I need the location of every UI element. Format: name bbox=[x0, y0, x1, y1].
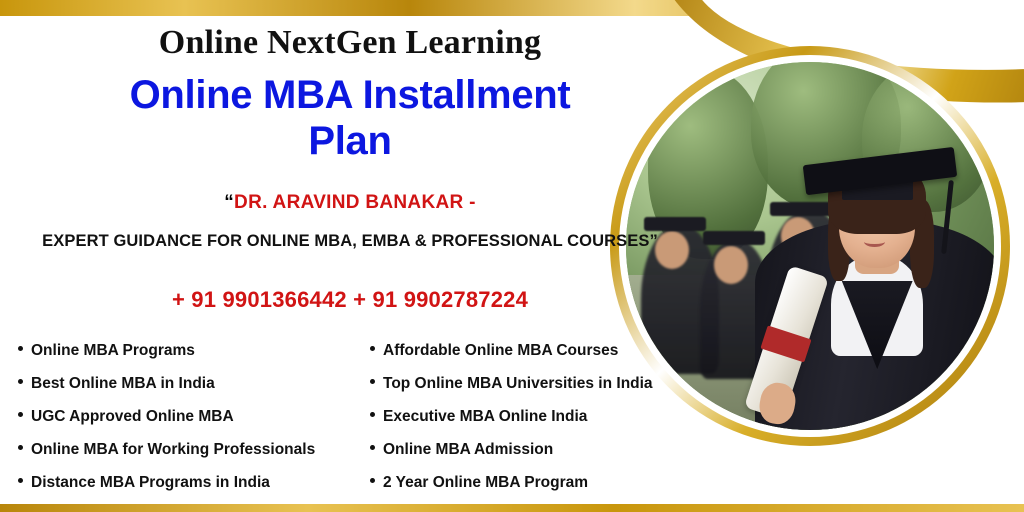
list-item: Affordable Online MBA Courses bbox=[370, 334, 700, 367]
list-item: 2 Year Online MBA Program bbox=[370, 466, 700, 499]
list-item-label: Online MBA Admission bbox=[383, 441, 553, 458]
list-item-label: Online MBA Programs bbox=[31, 342, 195, 359]
list-item-label: 2 Year Online MBA Program bbox=[383, 474, 588, 491]
list-item: Distance MBA Programs in India bbox=[18, 466, 370, 499]
list-item-label: Online MBA for Working Professionals bbox=[31, 441, 315, 458]
bullet-icon bbox=[18, 445, 23, 450]
subtitle-text: EXPERT GUIDANCE FOR ONLINE MBA, EMBA & P… bbox=[0, 232, 700, 251]
list-item-label: Affordable Online MBA Courses bbox=[383, 342, 618, 359]
bullet-icon bbox=[18, 478, 23, 483]
phone-numbers[interactable]: + 91 9901366442 + 91 9902787224 bbox=[0, 287, 700, 313]
main-title: Online MBA Installment Plan bbox=[0, 72, 700, 164]
list-item-label: Distance MBA Programs in India bbox=[31, 474, 270, 491]
keyword-lists: Online MBA Programs Best Online MBA in I… bbox=[18, 334, 708, 499]
bullet-icon bbox=[370, 346, 375, 351]
main-title-line-1: Online MBA Installment bbox=[0, 72, 700, 118]
keyword-column-left: Online MBA Programs Best Online MBA in I… bbox=[18, 334, 370, 499]
list-item: Online MBA for Working Professionals bbox=[18, 433, 370, 466]
list-item: Top Online MBA Universities in India bbox=[370, 367, 700, 400]
list-item: Executive MBA Online India bbox=[370, 400, 700, 433]
list-item: UGC Approved Online MBA bbox=[18, 400, 370, 433]
bullet-icon bbox=[18, 346, 23, 351]
author-line: “DR. ARAVIND BANAKAR - bbox=[0, 192, 700, 214]
list-item-label: Best Online MBA in India bbox=[31, 375, 215, 392]
main-graduate bbox=[744, 91, 994, 430]
bullet-icon bbox=[18, 379, 23, 384]
main-title-line-2: Plan bbox=[0, 118, 700, 164]
banner-text-content: Online NextGen Learning Online MBA Insta… bbox=[0, 0, 700, 512]
list-item: Best Online MBA in India bbox=[18, 367, 370, 400]
keyword-column-right: Affordable Online MBA Courses Top Online… bbox=[370, 334, 700, 499]
promo-banner: Online NextGen Learning Online MBA Insta… bbox=[0, 0, 1024, 512]
bullet-icon bbox=[370, 445, 375, 450]
list-item: Online MBA Programs bbox=[18, 334, 370, 367]
quote-open: “ bbox=[224, 192, 234, 213]
bullet-icon bbox=[370, 379, 375, 384]
brand-title: Online NextGen Learning bbox=[0, 24, 700, 62]
author-dash: - bbox=[464, 192, 476, 213]
bullet-icon bbox=[370, 478, 375, 483]
list-item-label: Top Online MBA Universities in India bbox=[383, 375, 653, 392]
bullet-icon bbox=[370, 412, 375, 417]
author-name: DR. ARAVIND BANAKAR bbox=[234, 192, 463, 213]
list-item-label: Executive MBA Online India bbox=[383, 408, 587, 425]
bullet-icon bbox=[18, 412, 23, 417]
list-item: Online MBA Admission bbox=[370, 433, 700, 466]
list-item-label: UGC Approved Online MBA bbox=[31, 408, 234, 425]
